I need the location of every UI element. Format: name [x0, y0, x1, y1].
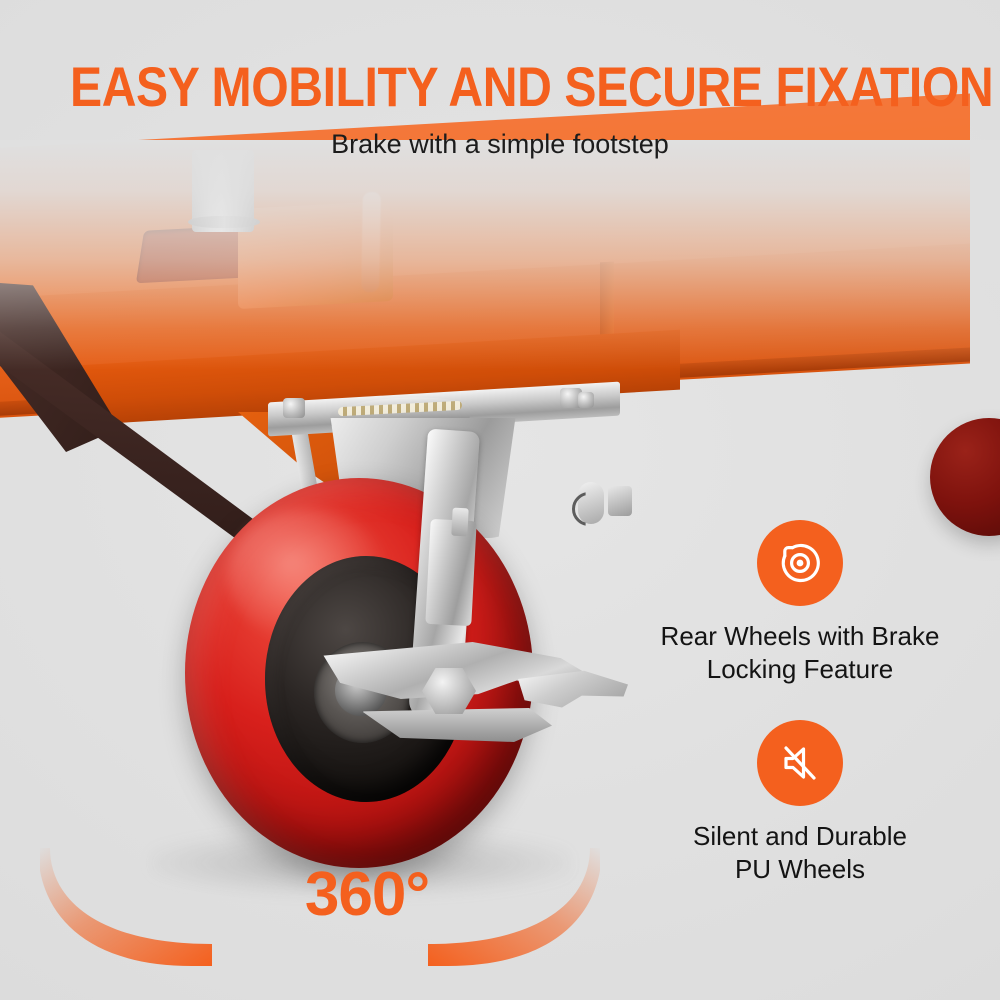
- rotation-badge: 360°: [40, 840, 600, 970]
- brake-ratchet-block: [425, 519, 476, 626]
- mount-bolt: [283, 398, 305, 418]
- feature-label: Rear Wheels with Brake Locking Feature: [600, 620, 1000, 686]
- feature-item-brake-lock: Rear Wheels with Brake Locking Feature: [600, 520, 1000, 686]
- rear-wheel: [930, 418, 1000, 536]
- speaker-mute-icon: [757, 720, 843, 806]
- page-title: EASY MOBILITY AND SECURE FIXATION: [70, 56, 930, 118]
- feature-list: Rear Wheels with Brake Locking Feature S…: [600, 520, 1000, 920]
- feature-label: Silent and Durable PU Wheels: [600, 820, 1000, 886]
- brake-ratchet-notch: [451, 508, 468, 537]
- handle-post-collar: [188, 216, 260, 228]
- hardware-bolt: [608, 486, 632, 516]
- rotation-degrees-label: 360°: [272, 856, 462, 934]
- feature-item-silent-pu: Silent and Durable PU Wheels: [600, 720, 1000, 886]
- header: EASY MOBILITY AND SECURE FIXATION Brake …: [0, 0, 1000, 160]
- mount-bolt: [578, 392, 594, 408]
- curved-arrow-left-icon: [40, 848, 212, 966]
- brake-foot-pedal: [318, 620, 618, 760]
- page-subtitle: Brake with a simple footstep: [0, 128, 1000, 160]
- promo-image: EASY MOBILITY AND SECURE FIXATION Brake …: [0, 0, 1000, 1000]
- brake-disc-icon: [757, 520, 843, 606]
- deck-weld-bead: [361, 192, 381, 292]
